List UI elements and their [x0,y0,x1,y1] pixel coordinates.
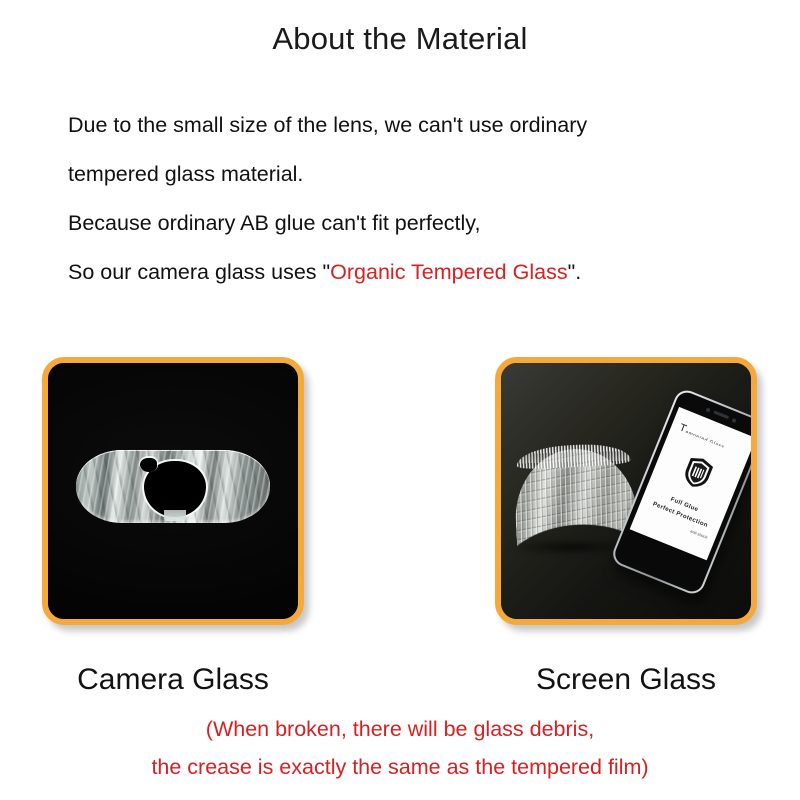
front-camera-icon [705,407,710,412]
camera-lens-film-shape [76,450,270,523]
body-copy-highlight-organic-tempered-glass: Organic Tempered Glass [330,260,567,284]
earpiece-speaker-icon [713,410,729,419]
screen-glass-photo: Tempered Glass Full Glue Perfect Protect… [501,363,751,619]
caption-camera-glass: Camera Glass [42,661,304,699]
body-copy-line-3: Because ordinary AB glue can't fit perfe… [68,199,768,248]
body-copy-block: Due to the small size of the lens, we ca… [68,101,768,297]
phone-screen-signature: anti-shock [689,528,708,539]
body-copy-line-4: So our camera glass uses "Organic Temper… [68,248,768,297]
caption-screen-glass: Screen Glass [495,661,757,699]
camera-glass-photo [48,363,298,619]
phone-screen-brand-text: Tempered Glass [679,422,746,456]
footnote-line-1: (When broken, there will be glass debris… [0,710,800,748]
page-title: About the Material [0,20,800,58]
body-copy-line-2: tempered glass material. [68,150,768,199]
shield-icon [678,452,716,492]
footnote-line-2: the crease is exactly the same as the te… [0,748,800,786]
body-copy-line-4-suffix: ". [568,260,582,284]
screen-glass-card[interactable]: Tempered Glass Full Glue Perfect Protect… [495,357,757,625]
body-copy-line-1: Due to the small size of the lens, we ca… [68,101,768,150]
camera-cutout-notch [140,458,157,472]
camera-film-tab [164,510,186,521]
camera-glass-card[interactable] [42,357,304,625]
proximity-sensor-icon [731,417,736,422]
body-copy-line-4-prefix: So our camera glass uses " [68,260,330,284]
